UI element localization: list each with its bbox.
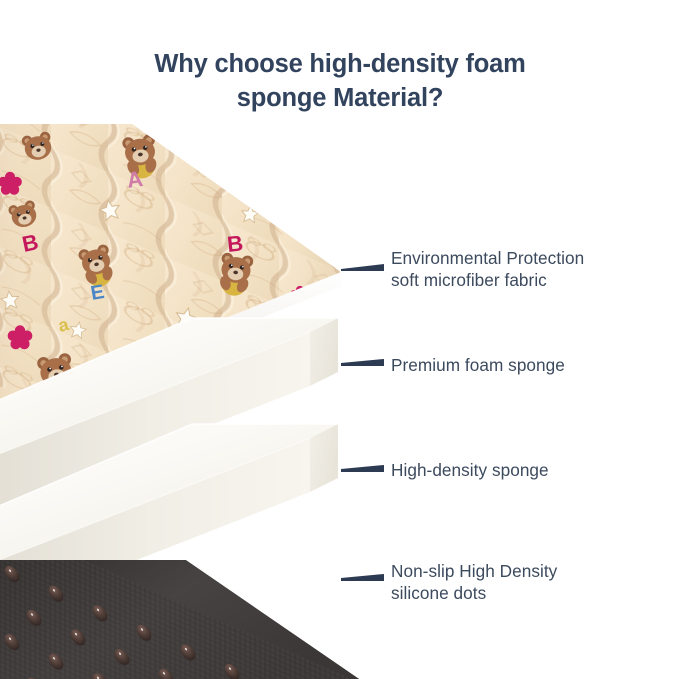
callout-label-fabric: Environmental Protection soft microfiber… — [391, 247, 584, 292]
svg-text:B: B — [226, 230, 244, 257]
product-infographic: Why choose high-density foam sponge Mate… — [0, 0, 679, 679]
callout-label-premium-foam: Premium foam sponge — [391, 354, 565, 376]
callout-label-high-density-sponge: High-density sponge — [391, 459, 549, 481]
exploded-layer-diagram: B B D A E E a a — [0, 0, 679, 679]
leader-line-premium-foam — [341, 359, 384, 366]
leader-line-fabric — [341, 264, 384, 271]
leader-line-silicone-dots — [341, 574, 384, 581]
leader-line-high-density — [341, 465, 384, 472]
callout-label-silicone-dots: Non-slip High Density silicone dots — [391, 560, 557, 605]
leader-lines — [341, 264, 384, 581]
